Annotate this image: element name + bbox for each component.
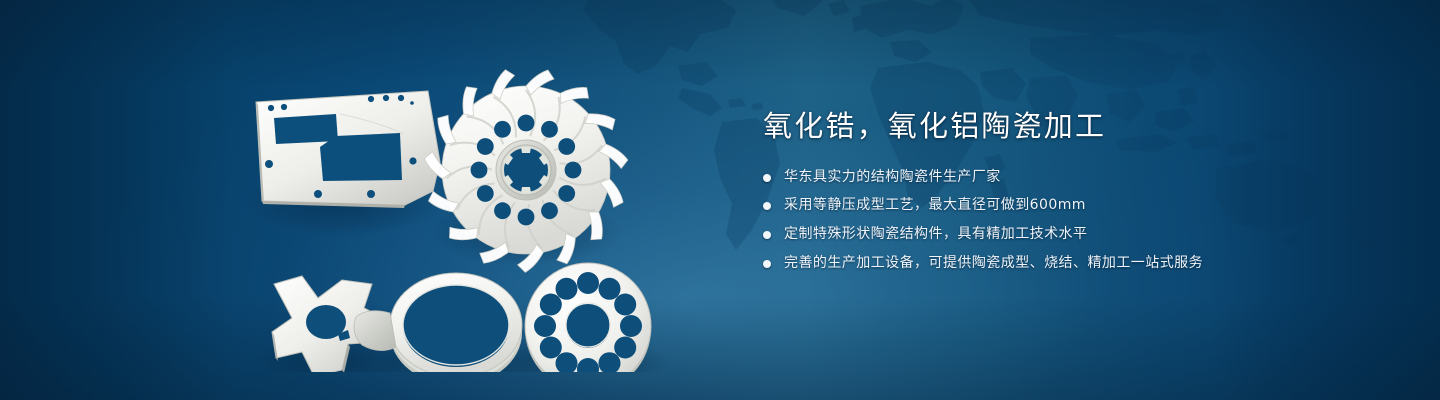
list-item: 华东具实力的结构陶瓷件生产厂家 — [763, 167, 1323, 189]
feature-text: 定制特殊形状陶瓷结构件，具有精加工技术水平 — [784, 224, 1087, 246]
list-item: 采用等静压成型工艺，最大直径可做到600mm — [763, 195, 1323, 217]
feature-text: 华东具实力的结构陶瓷件生产厂家 — [784, 167, 1001, 189]
ceramic-perforated-disc — [525, 263, 651, 372]
bullet-circle-icon — [763, 260, 771, 268]
ceramic-mounting-plate — [256, 91, 440, 208]
bullet-circle-icon — [763, 202, 771, 210]
page-title: 氧化锆，氧化铝陶瓷加工 — [763, 108, 1323, 146]
feature-text: 完善的生产加工设备，可提供陶瓷成型、烧结、精加工一站式服务 — [784, 253, 1203, 275]
bullet-circle-icon — [763, 231, 771, 239]
list-item: 定制特殊形状陶瓷结构件，具有精加工技术水平 — [763, 224, 1323, 246]
feature-list: 华东具实力的结构陶瓷件生产厂家 采用等静压成型工艺，最大直径可做到600mm 定… — [763, 167, 1323, 275]
feature-text: 采用等静压成型工艺，最大直径可做到600mm — [784, 195, 1086, 217]
list-item: 完善的生产加工设备，可提供陶瓷成型、烧结、精加工一站式服务 — [763, 253, 1323, 275]
product-photo-collage — [228, 42, 698, 372]
product-hero-banner: 氧化锆，氧化铝陶瓷加工 华东具实力的结构陶瓷件生产厂家 采用等静压成型工艺，最大… — [0, 0, 1440, 400]
bullet-circle-icon — [763, 174, 771, 182]
banner-copy: 氧化锆，氧化铝陶瓷加工 华东具实力的结构陶瓷件生产厂家 采用等静压成型工艺，最大… — [763, 108, 1323, 281]
